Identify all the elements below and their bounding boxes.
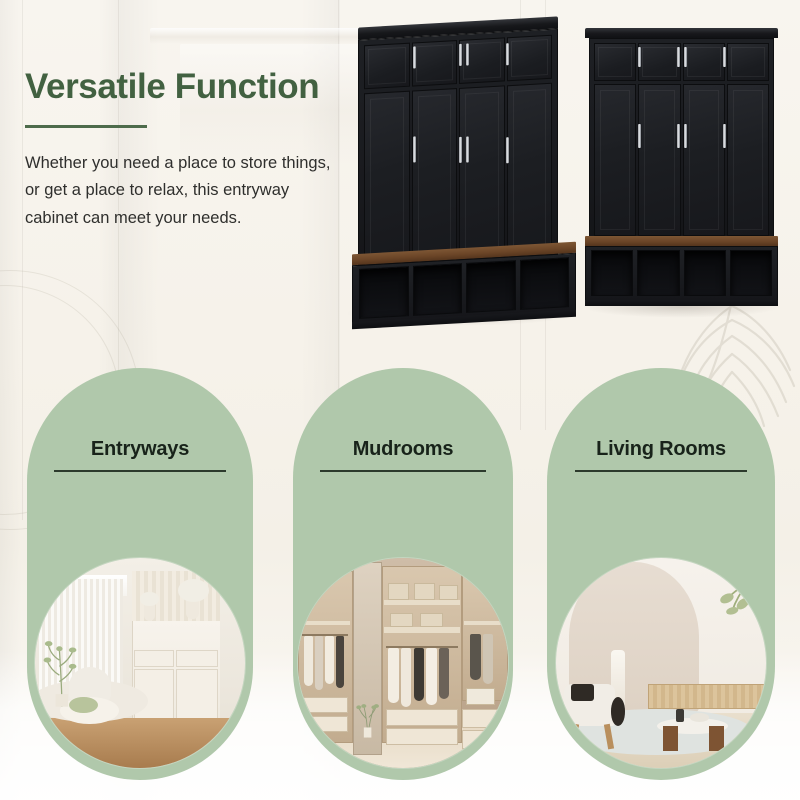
- product-image-entryway-cabinet-angled: [350, 22, 580, 312]
- cabinet-door: [683, 84, 725, 236]
- cabinet-door-row: [589, 84, 774, 236]
- category-title-underline: [320, 470, 486, 472]
- cabinet-transom-panel: [638, 43, 680, 81]
- cabinet-handle: [677, 47, 680, 67]
- cabinet-handle: [684, 47, 687, 67]
- cabinet-transom-panel: [683, 43, 725, 81]
- cabinet-cubby: [591, 250, 633, 296]
- cabinet-handle: [459, 137, 462, 163]
- category-card-mudrooms[interactable]: Mudrooms: [293, 368, 513, 780]
- cabinet-cubby: [520, 257, 570, 310]
- cabinet-handle: [684, 124, 687, 148]
- headline-block: Versatile Function Whether you need a pl…: [25, 68, 365, 233]
- cabinet-door: [727, 84, 769, 236]
- cabinet-handle: [413, 136, 416, 162]
- background-moulding: [150, 28, 360, 44]
- category-title: Living Rooms: [547, 438, 775, 461]
- cabinet-cubby: [637, 250, 679, 296]
- cabinet-handle: [638, 124, 641, 148]
- cabinet-handle: [466, 43, 469, 65]
- category-card-entryways[interactable]: Entryways: [27, 368, 253, 780]
- cabinet-handle: [638, 47, 641, 67]
- cabinet-transom-panel: [594, 43, 636, 81]
- cabinet-cubby: [359, 266, 409, 319]
- category-title-underline: [54, 470, 226, 472]
- cabinet-handle: [506, 43, 509, 65]
- cabinet-bench-top: [585, 236, 778, 246]
- cabinet-cubby: [413, 263, 463, 316]
- cabinet-bench-unit: [352, 230, 576, 329]
- cabinet-upper-case: [589, 28, 774, 240]
- cabinet-door: [638, 84, 680, 236]
- cabinet-handle: [506, 137, 509, 163]
- cabinet-handle: [459, 44, 462, 66]
- product-image-entryway-cabinet-front: [585, 28, 780, 308]
- cabinet-handle: [413, 46, 416, 68]
- category-title-underline: [575, 470, 747, 472]
- marketing-banner: Versatile Function Whether you need a pl…: [0, 0, 800, 800]
- cabinet-transom-row: [589, 43, 774, 81]
- cabinet-plinth: [585, 300, 778, 306]
- title-underline: [25, 125, 147, 128]
- cabinet-cubby: [730, 250, 772, 296]
- cabinet-handle: [677, 124, 680, 148]
- cabinet-bench-unit: [585, 236, 778, 306]
- cabinet-cubby-row: [589, 250, 774, 296]
- category-photo-mudrooms: [298, 558, 508, 768]
- cabinet-door: [594, 84, 636, 236]
- category-photo-living-rooms: [556, 558, 766, 768]
- cabinet-handle: [723, 47, 726, 67]
- category-photo-entryways: [35, 558, 245, 768]
- category-card-living-rooms[interactable]: Living Rooms: [547, 368, 775, 780]
- cabinet-transom-panel: [412, 40, 458, 87]
- cabinet-transom-panel: [727, 43, 769, 81]
- category-title: Mudrooms: [293, 438, 513, 461]
- cabinet-handle: [723, 124, 726, 148]
- page-title: Versatile Function: [25, 68, 365, 107]
- cabinet-cubby: [684, 250, 726, 296]
- cabinet-transom-panel: [364, 43, 410, 90]
- cabinet-cornice: [585, 28, 778, 38]
- page-subtitle: Whether you need a place to store things…: [25, 150, 345, 233]
- cabinet-handle: [466, 136, 469, 162]
- cabinet-transom-panel: [507, 35, 553, 82]
- category-title: Entryways: [27, 438, 253, 461]
- cabinet-cubby: [466, 260, 516, 313]
